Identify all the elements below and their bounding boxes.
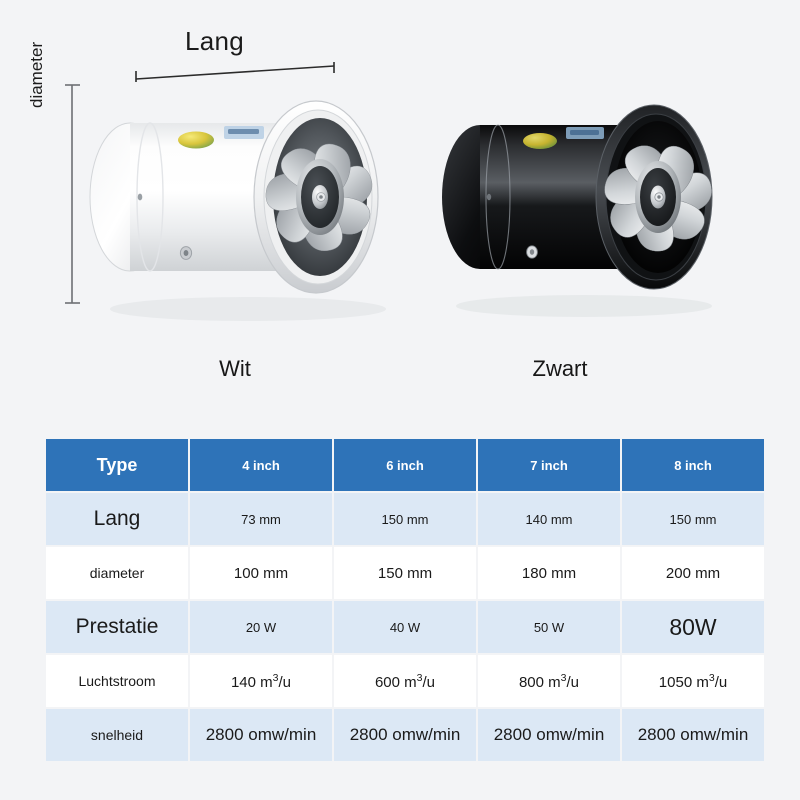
row-label-lang: Lang: [46, 493, 188, 545]
inline-duct-fan-white: [78, 66, 402, 328]
row-label-diameter: diameter: [46, 547, 188, 599]
cell-diameter-7: 180 mm: [478, 547, 620, 599]
table-header-row: Type 4 inch 6 inch 7 inch 8 inch: [46, 439, 764, 491]
cell-snelheid-6: 2800 omw/min: [334, 709, 476, 761]
inline-duct-fan-black: [432, 70, 724, 324]
cell-diameter-4: 100 mm: [190, 547, 332, 599]
cell-prestatie-4: 20 W: [190, 601, 332, 653]
cell-lang-4: 73 mm: [190, 493, 332, 545]
table-row-lang: Lang 73 mm 150 mm 140 mm 150 mm: [46, 493, 764, 545]
table-row-luchtstroom: Luchtstroom 140 m3/u 600 m3/u 800 m3/u 1…: [46, 655, 764, 707]
cell-luchtstroom-7: 800 m3/u: [478, 655, 620, 707]
cell-diameter-6: 150 mm: [334, 547, 476, 599]
cell-luchtstroom-4: 140 m3/u: [190, 655, 332, 707]
table-row-prestatie: Prestatie 20 W 40 W 50 W 80W: [46, 601, 764, 653]
row-label-luchtstroom: Luchtstroom: [46, 655, 188, 707]
header-4-inch: 4 inch: [190, 439, 332, 491]
header-type: Type: [46, 439, 188, 491]
cell-lang-8: 150 mm: [622, 493, 764, 545]
cell-snelheid-8: 2800 omw/min: [622, 709, 764, 761]
color-caption-white: Wit: [155, 356, 315, 382]
cell-lang-7: 140 mm: [478, 493, 620, 545]
color-caption-black: Zwart: [480, 356, 640, 382]
cell-lang-6: 150 mm: [334, 493, 476, 545]
cell-prestatie-7: 50 W: [478, 601, 620, 653]
table-row-snelheid: snelheid 2800 omw/min 2800 omw/min 2800 …: [46, 709, 764, 761]
row-label-snelheid: snelheid: [46, 709, 188, 761]
cell-prestatie-8: 80W: [622, 601, 764, 653]
header-8-inch: 8 inch: [622, 439, 764, 491]
cell-prestatie-6: 40 W: [334, 601, 476, 653]
length-dimension-label: Lang: [185, 26, 244, 57]
cell-snelheid-4: 2800 omw/min: [190, 709, 332, 761]
row-label-prestatie: Prestatie: [46, 601, 188, 653]
specification-table: Type 4 inch 6 inch 7 inch 8 inch Lang 73…: [44, 437, 766, 763]
header-7-inch: 7 inch: [478, 439, 620, 491]
cell-snelheid-7: 2800 omw/min: [478, 709, 620, 761]
header-6-inch: 6 inch: [334, 439, 476, 491]
product-photo-area: Lang diameter: [0, 0, 800, 420]
cell-luchtstroom-8: 1050 m3/u: [622, 655, 764, 707]
table-row-diameter: diameter 100 mm 150 mm 180 mm 200 mm: [46, 547, 764, 599]
diameter-dimension-label: diameter: [27, 42, 47, 108]
cell-luchtstroom-6: 600 m3/u: [334, 655, 476, 707]
cell-diameter-8: 200 mm: [622, 547, 764, 599]
